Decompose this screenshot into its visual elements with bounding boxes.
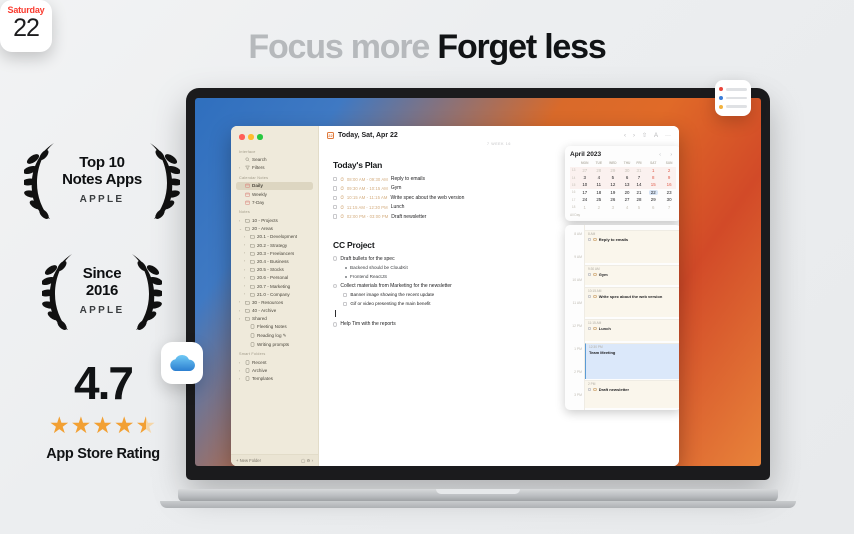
agenda-hour-label: 11 AM	[565, 301, 584, 324]
agenda-event-title: Gym	[599, 272, 608, 277]
calendar-tag-icon: 22	[327, 132, 334, 139]
checkbox-circle-icon[interactable]	[333, 322, 337, 326]
laptop-screen: InterfaceSearch›FiltersCalendar NotesDai…	[195, 98, 761, 466]
sidebar-item-archive[interactable]: ›Archive	[236, 367, 313, 375]
sidebar-item-label: 40 - Archive	[252, 308, 276, 313]
sidebar-item-7-day[interactable]: 7-Day	[236, 198, 313, 206]
sidebar-item-label: 7-Day	[252, 200, 264, 205]
sidebar-item-shared[interactable]: ›Shared	[236, 315, 313, 323]
calendar-week-row: 1724252627282930	[570, 196, 676, 203]
laptop-foot	[160, 501, 796, 508]
calendar-icon	[245, 183, 250, 188]
award-badge-top10: Top 10 Notes Apps APPLE	[22, 132, 182, 228]
star-icon: ★	[114, 412, 136, 438]
calendar-day-number: 20	[625, 190, 630, 195]
chevron-icon[interactable]: ›	[239, 317, 242, 321]
template-icon	[245, 376, 250, 381]
search-icon	[245, 157, 250, 162]
sidebar-section-header: Notes	[239, 210, 313, 214]
agenda-event[interactable]: 10:15 AMWrite spec about the web version	[585, 287, 679, 317]
calendar-day-number: 10	[582, 182, 587, 187]
calendar-day-number: 27	[625, 197, 630, 202]
chevron-icon[interactable]: ⌄	[239, 227, 242, 231]
clock-icon: ⏱	[340, 195, 343, 200]
folder-icon	[250, 275, 255, 280]
more-icon[interactable]: ···	[665, 133, 671, 139]
folder-icon	[250, 284, 255, 289]
sidebar-item-30-resources[interactable]: ›30 - Resources	[236, 298, 313, 306]
checkbox-icon[interactable]	[333, 214, 337, 218]
sidebar-item-label: 20.2 - Strategy	[257, 243, 287, 248]
clock-icon	[593, 388, 596, 391]
calendar-day-number: 6	[652, 205, 654, 210]
calendar-day-number: 31	[637, 168, 642, 173]
agenda-event-title-row: Gym	[588, 272, 678, 277]
chevron-icon[interactable]: ›	[239, 309, 242, 313]
calendar-week-number[interactable]: 16	[570, 189, 577, 196]
laurel-left-icon	[24, 139, 58, 221]
bullet-dot-icon	[345, 267, 347, 269]
calendar-day-number: 3	[612, 205, 614, 210]
badge-sub: APPLE	[62, 194, 142, 205]
checkbox-circle-icon[interactable]	[333, 256, 337, 260]
folder-shared-icon	[245, 316, 250, 321]
calendar-week-number[interactable]: 15	[570, 181, 577, 188]
calendar-day-number: 11	[597, 182, 602, 187]
sidebar-section-header: Interface	[239, 150, 313, 154]
chevron-icon[interactable]: ›	[239, 377, 242, 381]
laptop-lid: InterfaceSearch›FiltersCalendar NotesDai…	[186, 88, 770, 480]
calendar-day-number: 6	[626, 175, 628, 180]
close-icon[interactable]	[239, 134, 245, 140]
calendar-day-number: 26	[610, 197, 615, 202]
agenda-event-title-row: Lunch	[588, 326, 678, 331]
dot-yellow-icon	[719, 105, 723, 109]
calendar-day-cell[interactable]: 27	[577, 167, 592, 174]
sidebar-item-label: 20.4 - Business	[257, 259, 289, 264]
sidebar-item-label: Reading log ✎	[257, 333, 287, 339]
sidebar-item-20-4-business[interactable]: ›20.4 - Business	[236, 257, 313, 265]
calendar-day-number: 14	[637, 182, 642, 187]
chevron-icon[interactable]: ›	[239, 369, 242, 373]
task-time: 09:30 AM - 10:15 AM	[347, 186, 388, 191]
widget-row	[719, 96, 747, 100]
calendar-day-cell[interactable]: 29	[644, 196, 662, 203]
chevron-icon[interactable]: ›	[244, 292, 247, 296]
task-label: Gym	[391, 185, 402, 191]
sidebar-item-reading-log[interactable]: Reading log ✎	[236, 331, 313, 340]
agenda-hour-label: 10 AM	[565, 278, 584, 301]
calendar-day-number: 1	[584, 205, 586, 210]
task-time: 11:15 AM - 12:30 PM	[347, 205, 388, 210]
subtask-label: Banner image showing the recent update	[350, 292, 434, 297]
note-title-text: Today, Sat, Apr 22	[338, 132, 398, 139]
calendar-day-cell[interactable]: 30	[620, 167, 633, 174]
chevron-icon[interactable]: ›	[244, 276, 247, 280]
dot-red-icon	[719, 87, 723, 91]
calendar-day-number: 15	[651, 182, 656, 187]
sidebar-item-40-archive[interactable]: ›40 - Archive	[236, 307, 313, 315]
sidebar-item-templates[interactable]: ›Templates	[236, 375, 313, 383]
window-traffic-lights[interactable]	[236, 132, 313, 146]
calendar-day-cell[interactable]: 2	[662, 167, 676, 174]
sidebar-item-label: Daily	[252, 183, 263, 188]
chevron-icon[interactable]: ›	[244, 243, 247, 247]
calendar-day-cell[interactable]: 8	[644, 174, 662, 181]
checkbox-icon[interactable]	[588, 295, 591, 298]
badge-sub: APPLE	[80, 305, 125, 316]
agenda-event-time: 10:15 AM	[588, 289, 678, 293]
sidebar-item-label: Fleeting Notes	[257, 324, 287, 329]
agenda-event-title: Lunch	[599, 326, 611, 331]
calendar-day-cell[interactable]: 7	[634, 174, 644, 181]
calendar-day-cell[interactable]: 3	[605, 203, 620, 210]
calendar-day-cell[interactable]: 24	[577, 196, 592, 203]
calendar-week-row: 181234567	[570, 203, 676, 210]
sidebar-item-writing-prompts[interactable]: Writing prompts	[236, 340, 313, 348]
calendar-panel: April 2023 ‹ › MONTUEWEDTHUFRISATSUN 132…	[565, 146, 679, 410]
calendar-day-cell[interactable]: 31	[634, 167, 644, 174]
calendar-day-number: 28	[637, 197, 642, 202]
agenda-event-title-row: Write spec about the web version	[588, 294, 678, 299]
task-time: 02:00 PM - 03:00 PM	[347, 214, 388, 219]
todo-label: Collect materials from Marketing for the…	[340, 283, 451, 289]
sidebar-item-20-5-stocks[interactable]: ›20.5 - Stocks	[236, 266, 313, 274]
share-icon[interactable]: ⇧	[642, 132, 647, 139]
calendar-day-cell[interactable]: 20	[620, 189, 633, 196]
calendar-day-cell[interactable]: 1	[644, 167, 662, 174]
macbook-mockup: InterfaceSearch›FiltersCalendar NotesDai…	[178, 88, 778, 508]
calendar-day-number: 27	[582, 168, 587, 173]
sidebar-item-label: Archive	[252, 368, 267, 373]
chevron-icon[interactable]: ›	[239, 300, 242, 304]
rating-label: App Store Rating	[28, 446, 178, 462]
sidebar-item-20-3-freelancers[interactable]: ›20.3 - Freelancers	[236, 249, 313, 257]
sidebar-item-fleeting-notes[interactable]: Fleeting Notes	[236, 323, 313, 331]
headline-grey: Focus more	[248, 28, 429, 66]
task-label: Draft newsletter	[391, 214, 426, 220]
chevron-icon[interactable]: ›	[244, 259, 247, 263]
note-title: 22 Today, Sat, Apr 22	[327, 132, 398, 139]
clock-icon	[593, 327, 596, 330]
calendar-day-number: 9	[668, 175, 670, 180]
agenda-hour-label: 3 PM	[565, 393, 584, 410]
calendar-day-cell[interactable]: 18	[592, 189, 605, 196]
folder-icon	[245, 226, 250, 231]
calendar-day-cell[interactable]: 10	[577, 181, 592, 188]
editor-toolbar: 22 Today, Sat, Apr 22 ‹›⇧A···	[319, 126, 679, 141]
sidebar-item-daily[interactable]: Daily	[236, 182, 313, 190]
checkbox-circle-icon[interactable]	[333, 284, 337, 288]
sidebar-item-label: 30 - Resources	[252, 300, 283, 305]
sidebar-section-header: Calendar Notes	[239, 176, 313, 180]
calendar-day-cell[interactable]: 13	[620, 181, 633, 188]
agenda-event[interactable]: 2 PMDraft newsletter	[585, 380, 679, 408]
calendar-day-number: 22	[649, 190, 658, 195]
sidebar-item-label: 20.7 - Marketing	[257, 284, 290, 289]
calendar-day-cell[interactable]: 29	[605, 167, 620, 174]
maximize-icon[interactable]	[257, 134, 263, 140]
dot-blue-icon	[719, 96, 723, 100]
calendar-day-cell[interactable]: 15	[644, 181, 662, 188]
clock-icon: ⏱	[340, 177, 343, 182]
sidebar-item-label: 20.6 - Personal	[257, 275, 288, 280]
calendar-week-row: 1510111213141516	[570, 181, 676, 188]
calendar-day-cell[interactable]: 2	[592, 203, 605, 210]
calendar-day-cell[interactable]: 6	[620, 174, 633, 181]
sidebar-item-label: 20 - Areas	[252, 226, 273, 231]
star-icon: ★	[71, 412, 93, 438]
checkbox-icon[interactable]	[588, 238, 591, 241]
clock-icon	[593, 273, 596, 276]
sidebar-item-20-areas[interactable]: ⌄20 - Areas	[236, 225, 313, 233]
calendar-day-cell[interactable]: 3	[577, 174, 592, 181]
folder-icon	[250, 267, 255, 272]
agenda-event-title: Team Meeting	[589, 350, 615, 355]
star-icon: ★	[92, 412, 114, 438]
sidebar-item-label: 20.3 - Freelancers	[257, 251, 294, 256]
text-cursor	[335, 310, 336, 317]
calendar-day-number: 25	[596, 197, 601, 202]
calendar-7day-icon	[245, 200, 250, 205]
task-label: Reply to emails	[391, 176, 425, 182]
calendar-day-number: 30	[625, 168, 630, 173]
agenda-event[interactable]: 8 AMReply to emails	[585, 230, 679, 263]
folder-icon	[245, 300, 250, 305]
calendar-day-cell[interactable]: 26	[605, 196, 620, 203]
calendar-day-cell[interactable]: 12	[605, 181, 620, 188]
agenda-event[interactable]: 12:30 PMTeam Meeting	[585, 343, 679, 379]
calendar-week-row: 143456789	[570, 174, 676, 181]
note-icon	[250, 324, 255, 329]
calendar-day-cell[interactable]: 7	[662, 203, 676, 210]
badge-line2: 2016	[86, 282, 118, 299]
checkbox-icon[interactable]	[333, 196, 337, 200]
agenda-hour-label: 9 AM	[565, 255, 584, 278]
calendar-day-cell[interactable]: 28	[592, 167, 605, 174]
agenda-events[interactable]: 8 AMReply to emails9:30 AMGym10:15 AMWri…	[584, 225, 679, 410]
notes-list-widget-icon	[715, 80, 751, 116]
agenda-event-title: Reply to emails	[599, 237, 628, 242]
calendar-day-number: 16	[667, 182, 672, 187]
sidebar-item-10-projects[interactable]: ›10 - Projects	[236, 216, 313, 224]
agenda-event-time: 2 PM	[588, 382, 678, 386]
sidebar-section-header: Smart Folders	[239, 352, 313, 356]
calendar-day-number: 4	[626, 205, 628, 210]
calendar-day-cell[interactable]: 22	[644, 189, 662, 196]
star-half-icon: ★	[135, 412, 157, 438]
task-label: Write spec about the web version	[391, 195, 465, 201]
calendar-day-cell[interactable]: 21	[634, 189, 644, 196]
calendar-day-number: 24	[582, 197, 587, 202]
folder-icon	[250, 234, 255, 239]
checkbox-icon[interactable]	[343, 293, 347, 297]
sidebar-item-20-7-marketing[interactable]: ›20.7 - Marketing	[236, 282, 313, 290]
task-time: 10:15 AM - 11:15 AM	[347, 195, 388, 200]
calendar-day-cell[interactable]: 6	[644, 203, 662, 210]
folder-icon	[245, 308, 250, 313]
sidebar-item-20-1-development[interactable]: ›20.1 - Development	[236, 233, 313, 241]
bullet-label: Backend should be CloudKit	[350, 265, 408, 270]
widget-row	[719, 87, 747, 91]
agenda-event-time: 8 AM	[588, 232, 678, 236]
sidebar-item-label: Shared	[252, 316, 267, 321]
calendar-day-cell[interactable]: 25	[592, 196, 605, 203]
calendar-day-number: 1	[652, 168, 654, 173]
sidebar-item-label: 10 - Projects	[252, 218, 278, 223]
calendar-day-number: 12	[610, 182, 615, 187]
folder-icon	[250, 251, 255, 256]
checkbox-icon[interactable]	[588, 327, 591, 330]
calendar-day-number: 4	[598, 175, 600, 180]
star-icon: ★	[49, 412, 71, 438]
calendar-day-number: 17	[582, 190, 587, 195]
notes-app-window: InterfaceSearch›FiltersCalendar NotesDai…	[231, 126, 679, 466]
calendar-day-number: 29	[651, 197, 656, 202]
icloud-icon	[161, 342, 203, 384]
sidebar-item-label: 21.0 - Company	[257, 292, 290, 297]
chevron-icon[interactable]: ›	[244, 284, 247, 288]
calendar-header: April 2023 ‹ ›	[570, 151, 676, 158]
sidebar-item-filters[interactable]: ›Filters	[236, 164, 313, 172]
folder-icon	[245, 218, 250, 223]
agenda-hour-label: 12 PM	[565, 324, 584, 347]
calendar-week-number[interactable]: 18	[570, 203, 577, 210]
calendar-week-number[interactable]: 17	[570, 196, 577, 203]
forward-icon[interactable]: ›	[633, 133, 635, 139]
calendar-day-number: 19	[610, 190, 615, 195]
new-folder-button[interactable]: + New Folder	[236, 458, 261, 463]
calendar-day-number: 21	[637, 190, 642, 195]
checkbox-icon[interactable]	[343, 302, 347, 306]
clock-icon: ⏱	[340, 205, 343, 210]
rating-score: 4.7	[28, 360, 178, 406]
agenda-event-title: Write spec about the web version	[599, 294, 663, 299]
agenda-hour-label: 2 PM	[565, 370, 584, 393]
laurel-right-icon	[128, 250, 162, 332]
calendar-day-cell[interactable]: 23	[662, 189, 676, 196]
widget-row	[719, 105, 747, 109]
agenda-event[interactable]: 9:30 AMGym	[585, 265, 679, 285]
calendar-nav[interactable]: ‹ ›	[659, 152, 676, 158]
folder-icon	[250, 259, 255, 264]
note-icon	[250, 333, 255, 338]
agenda-event-title-row: Reply to emails	[588, 237, 678, 242]
bullet-label: Frontend ReactJS	[350, 274, 387, 279]
todo-label: Help Tim with the reports	[340, 321, 395, 327]
checkbox-icon[interactable]	[333, 186, 337, 190]
calendar-week-icon	[245, 192, 250, 197]
sidebar-footer-icons[interactable]: ◯ ⚙ ›	[301, 458, 313, 463]
chevron-icon[interactable]: ›	[239, 166, 242, 170]
sidebar-item-weekly[interactable]: Weekly	[236, 190, 313, 198]
page-title: Focus more Forget less	[0, 28, 854, 67]
sidebar-item-label: Recent	[252, 360, 267, 365]
chevron-icon[interactable]: ›	[244, 268, 247, 272]
bullet-dot-icon	[345, 276, 347, 278]
app-sidebar: InterfaceSearch›FiltersCalendar NotesDai…	[231, 126, 319, 466]
calendar-day-number: 5	[638, 205, 640, 210]
calendar-week-number[interactable]: 14	[570, 174, 577, 181]
folder-icon	[250, 243, 255, 248]
calendar-day-number: 23	[667, 190, 672, 195]
chevron-icon[interactable]: ›	[239, 219, 242, 223]
calendar-day-number: 7	[638, 175, 640, 180]
calendar-day-cell[interactable]: 27	[620, 196, 633, 203]
day-agenda[interactable]: 8 AM9 AM10 AM11 AM12 PM1 PM2 PM3 PM 8 AM…	[565, 225, 679, 410]
chevron-icon[interactable]: ›	[244, 251, 247, 255]
format-icon[interactable]: A	[654, 133, 658, 139]
calendar-day-cell[interactable]: 30	[662, 196, 676, 203]
calendar-week-row: 13272829303112	[570, 167, 676, 174]
checkbox-icon[interactable]	[588, 388, 591, 391]
calendar-week-number[interactable]: 13	[570, 167, 577, 174]
calendar-day-cell[interactable]: 4	[592, 174, 605, 181]
minimize-icon[interactable]	[248, 134, 254, 140]
todo-label: Draft bullets for the spec	[340, 256, 394, 262]
clock-icon	[593, 238, 596, 241]
calendar-grid[interactable]: MONTUEWEDTHUFRISATSUN 132728293031121434…	[570, 161, 676, 211]
calendar-day-cell[interactable]: 9	[662, 174, 676, 181]
back-icon[interactable]: ‹	[624, 133, 626, 139]
calendar-day-cell[interactable]: 1	[577, 203, 592, 210]
chevron-icon[interactable]: ›	[239, 361, 242, 365]
agenda-event[interactable]: 11:15 AMLunch	[585, 319, 679, 341]
calendar-day-cell[interactable]: 14	[634, 181, 644, 188]
calendar-month-label: April 2023	[570, 151, 601, 158]
calendar-day-cell[interactable]: 5	[605, 174, 620, 181]
editor-tool-icons[interactable]: ‹›⇧A···	[624, 132, 671, 139]
calendar-day-cell[interactable]: 11	[592, 181, 605, 188]
laptop-base-notch	[436, 489, 520, 494]
calendar-day-cell[interactable]: 4	[620, 203, 633, 210]
sidebar-item-20-2-strategy[interactable]: ›20.2 - Strategy	[236, 241, 313, 249]
badge-line2: Notes Apps	[62, 171, 142, 188]
task-time: 08:00 AM - 09:30 AM	[347, 177, 388, 182]
sidebar-footer: + New Folder ◯ ⚙ ›	[231, 454, 318, 466]
calendar-day-cell[interactable]: 28	[634, 196, 644, 203]
rating-stars: ★★★★★	[28, 414, 178, 437]
sidebar-item-label: Writing prompts	[257, 342, 289, 347]
sidebar-item-label: Filters	[252, 165, 265, 170]
calendar-day-number: 7	[668, 205, 670, 210]
sidebar-item-label: 20.1 - Development	[257, 234, 297, 239]
calendar-day-cell[interactable]: 19	[605, 189, 620, 196]
agenda-event-time: 9:30 AM	[588, 267, 678, 271]
sidebar-item-recent[interactable]: ›Recent	[236, 358, 313, 366]
agenda-hour-column: 8 AM9 AM10 AM11 AM12 PM1 PM2 PM3 PM	[565, 225, 584, 410]
calendar-day-cell[interactable]: 5	[634, 203, 644, 210]
calendar-day-number: 2	[668, 168, 670, 173]
sidebar-item-21-0-company[interactable]: ›21.0 - Company	[236, 290, 313, 298]
chevron-icon[interactable]: ›	[244, 235, 247, 239]
folder-icon	[250, 292, 255, 297]
sidebar-item-search[interactable]: Search	[236, 156, 313, 164]
agenda-event-title-row: Draft newsletter	[588, 387, 678, 392]
sidebar-item-20-6-personal[interactable]: ›20.6 - Personal	[236, 274, 313, 282]
checkbox-icon[interactable]	[333, 205, 337, 209]
calendar-day-cell[interactable]: 16	[662, 181, 676, 188]
checkbox-icon[interactable]	[588, 273, 591, 276]
archive-icon	[245, 368, 250, 373]
agenda-event-title-row: Team Meeting	[589, 350, 678, 355]
calendar-footer: All Day	[570, 213, 676, 217]
checkbox-icon[interactable]	[333, 177, 337, 181]
calendar-day-number: 8	[652, 175, 654, 180]
month-calendar[interactable]: April 2023 ‹ › MONTUEWEDTHUFRISATSUN 132…	[565, 146, 679, 221]
headline-dark: Forget less	[437, 28, 605, 66]
calendar-day-cell[interactable]: 17	[577, 189, 592, 196]
